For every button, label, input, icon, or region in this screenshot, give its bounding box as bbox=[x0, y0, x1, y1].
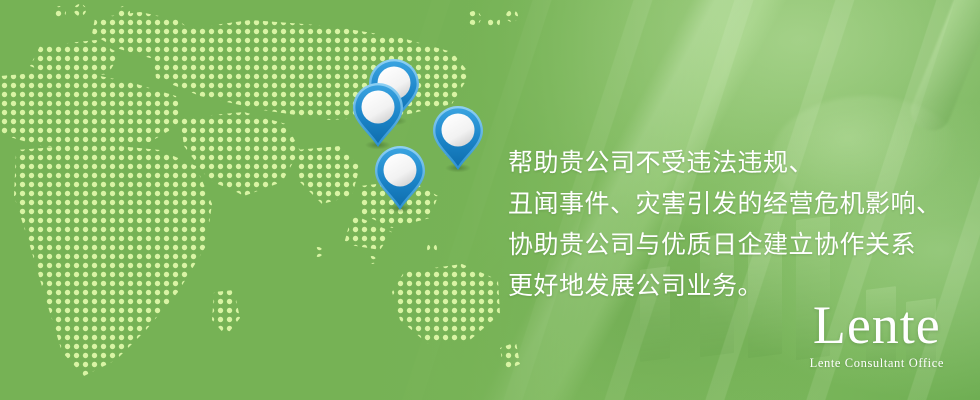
headline-line-3: 协助贵公司与优质日企建立协作关系 bbox=[508, 225, 948, 266]
map-pin-right[interactable] bbox=[432, 105, 484, 173]
headline-line-2: 丑闻事件、灾害引发的经营危机影响、 bbox=[508, 184, 948, 225]
dotted-world-map-icon bbox=[0, 0, 520, 400]
map-pin-bottom[interactable] bbox=[374, 145, 426, 213]
headline-line-1: 帮助贵公司不受违法违规、 bbox=[508, 143, 948, 184]
logo-wordmark: Lente bbox=[810, 298, 944, 352]
map-pin-left[interactable] bbox=[352, 82, 404, 150]
company-logo: Lente Lente Consultant Office bbox=[810, 298, 944, 372]
logo-subtitle: Lente Consultant Office bbox=[810, 354, 944, 372]
headline-copy: 帮助贵公司不受违法违规、 丑闻事件、灾害引发的经营危机影响、 协助贵公司与优质日… bbox=[508, 143, 948, 307]
promo-banner: 帮助贵公司不受违法违规、 丑闻事件、灾害引发的经营危机影响、 协助贵公司与优质日… bbox=[0, 0, 980, 400]
